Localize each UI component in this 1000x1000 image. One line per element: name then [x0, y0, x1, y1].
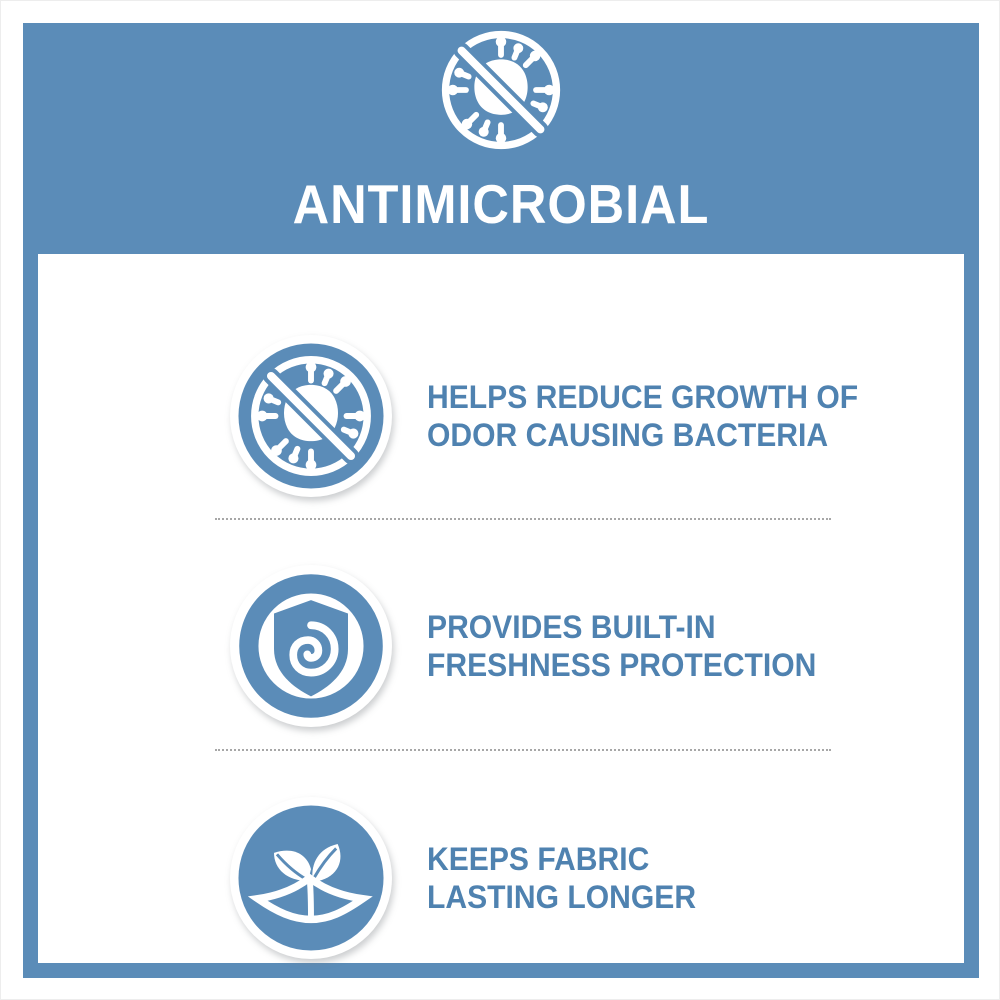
feature-row: PROVIDES BUILT-IN FRESHNESS PROTECTION [38, 546, 964, 746]
badge-container [223, 335, 398, 497]
feature-text-line2: ODOR CAUSING BACTERIA [427, 416, 932, 454]
feature-row: HELPS REDUCE GROWTH OF ODOR CAUSING BACT… [38, 316, 964, 516]
feature-text-line2: LASTING LONGER [427, 878, 932, 916]
badge-container [223, 565, 398, 727]
content-card: HELPS REDUCE GROWTH OF ODOR CAUSING BACT… [38, 254, 964, 963]
virus-blocked-icon [428, 17, 574, 163]
feature-text: PROVIDES BUILT-IN FRESHNESS PROTECTION [427, 608, 932, 684]
feature-text: HELPS REDUCE GROWTH OF ODOR CAUSING BACT… [427, 378, 932, 454]
feature-text: KEEPS FABRIC LASTING LONGER [427, 840, 932, 916]
virus-blocked-badge-icon [230, 335, 392, 497]
feature-text-line1: HELPS REDUCE GROWTH OF [427, 378, 932, 416]
badge-container [223, 797, 398, 959]
shield-swirl-badge-icon [230, 565, 392, 727]
blue-frame: ANTIMICROBIAL [23, 23, 979, 978]
page-title: ANTIMICROBIAL [61, 175, 941, 233]
header-banner: ANTIMICROBIAL [23, 23, 979, 254]
feature-text-line1: PROVIDES BUILT-IN [427, 608, 932, 646]
feature-text-line1: KEEPS FABRIC [427, 840, 932, 878]
infographic-page: ANTIMICROBIAL [0, 0, 1000, 1000]
row-divider [215, 749, 831, 751]
feature-text-line2: FRESHNESS PROTECTION [427, 646, 932, 684]
row-divider [215, 518, 831, 520]
feature-row: KEEPS FABRIC LASTING LONGER [38, 778, 964, 978]
leaf-fabric-badge-icon [230, 797, 392, 959]
feature-list: HELPS REDUCE GROWTH OF ODOR CAUSING BACT… [38, 254, 964, 963]
